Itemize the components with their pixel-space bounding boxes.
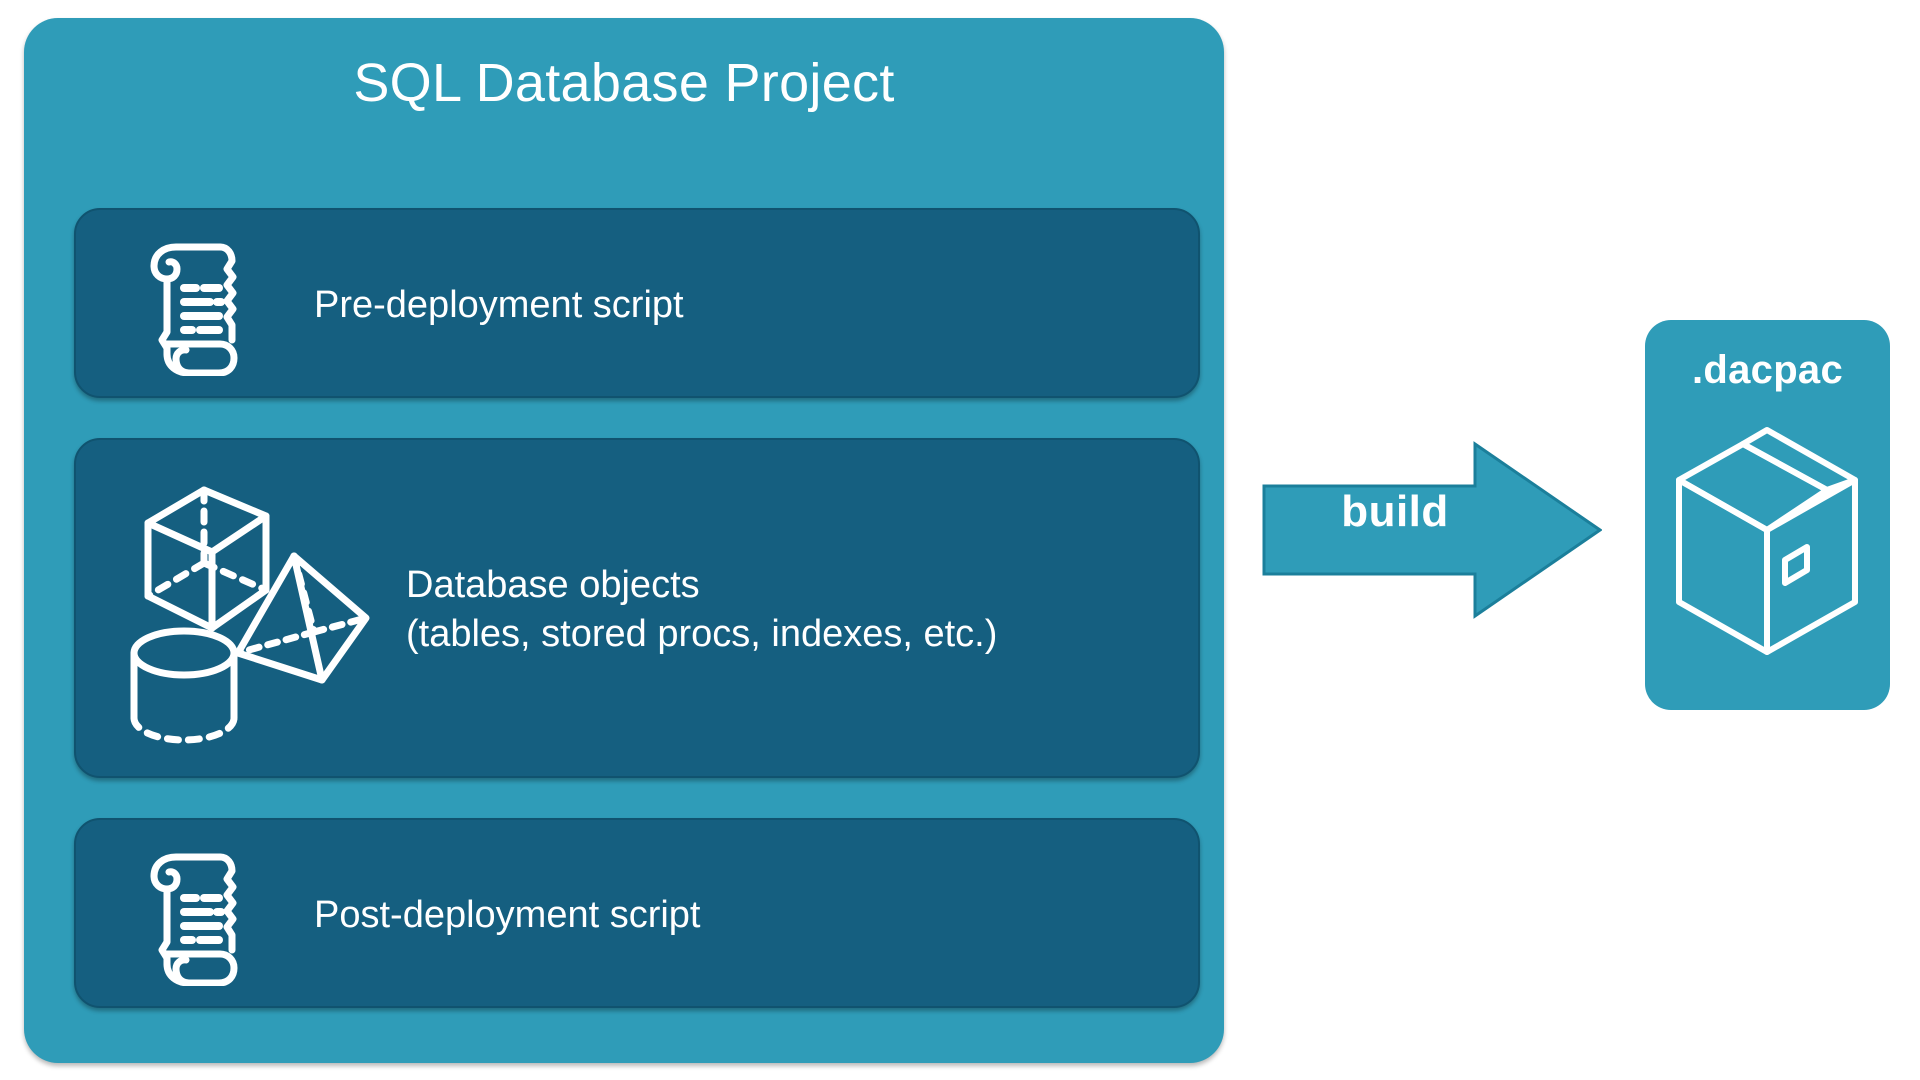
dacpac-output-card[interactable]: .dacpac xyxy=(1645,320,1890,710)
package-box-icon xyxy=(1667,412,1867,677)
sql-database-project-container: SQL Database Project xyxy=(24,18,1224,1063)
dacpac-title: .dacpac xyxy=(1645,348,1890,393)
card-pre-deployment[interactable]: Pre-deployment script xyxy=(74,208,1200,398)
scroll-icon xyxy=(124,846,252,991)
card-database-objects[interactable]: Database objects (tables, stored procs, … xyxy=(74,438,1200,778)
scroll-icon xyxy=(124,236,252,381)
build-label: build xyxy=(1300,490,1490,534)
card-database-objects-label: Database objects (tables, stored procs, … xyxy=(406,440,997,780)
page-title: SQL Database Project xyxy=(24,54,1224,113)
card-post-deployment-label: Post-deployment script xyxy=(314,820,701,1010)
card-post-deployment[interactable]: Post-deployment script xyxy=(74,818,1200,1008)
diagram-canvas: SQL Database Project xyxy=(0,0,1920,1080)
card-pre-deployment-label: Pre-deployment script xyxy=(314,210,684,400)
shapes-icon xyxy=(126,468,376,758)
